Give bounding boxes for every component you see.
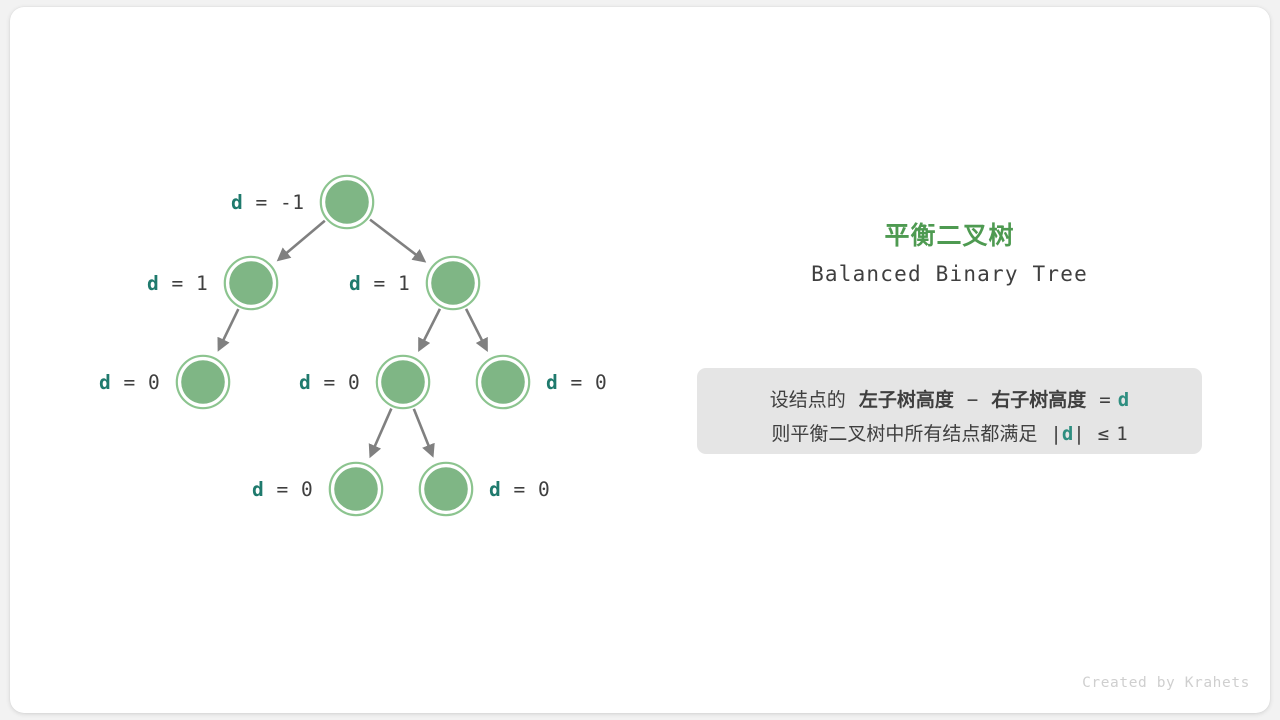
label-variable: d <box>349 272 361 295</box>
variable-d: d <box>1062 423 1073 445</box>
label-variable: d <box>147 272 159 295</box>
node-balance-label: d = 1 <box>349 274 410 294</box>
label-value: 1 <box>196 272 208 295</box>
node-disc <box>229 261 273 305</box>
equals-sign: = <box>1099 389 1110 411</box>
tree-edge <box>466 309 486 349</box>
tree-node[interactable] <box>321 176 373 228</box>
panel-title-cn: 平衡二叉树 <box>697 222 1202 250</box>
label-value: 0 <box>538 478 550 501</box>
label-equals: = <box>243 191 280 214</box>
node-disc <box>381 360 425 404</box>
minus-sign: − <box>967 389 978 411</box>
tree-node[interactable] <box>420 463 472 515</box>
label-variable: d <box>546 371 558 394</box>
term-left-subtree-height: 左子树高度 <box>859 389 954 411</box>
tree-node[interactable] <box>330 463 382 515</box>
node-disc <box>181 360 225 404</box>
tree-node[interactable] <box>177 356 229 408</box>
label-variable: d <box>299 371 311 394</box>
node-disc <box>431 261 475 305</box>
label-equals: = <box>159 272 196 295</box>
label-equals: = <box>264 478 301 501</box>
diagram-canvas: d = -1d = 1d = 1d = 0d = 0d = 0d = 0d = … <box>0 0 1280 720</box>
condition-prefix: 则平衡二叉树中所有结点都满足 <box>771 423 1037 445</box>
label-equals: = <box>111 371 148 394</box>
definition-prefix: 设结点的 <box>770 389 846 411</box>
label-value: 0 <box>595 371 607 394</box>
tree-edge <box>420 309 440 349</box>
abs-bar-open: | <box>1050 423 1061 445</box>
label-variable: d <box>489 478 501 501</box>
label-value: 0 <box>348 371 360 394</box>
bound-value: 1 <box>1116 423 1127 445</box>
abs-bar-close: | <box>1073 423 1084 445</box>
tree-node[interactable] <box>477 356 529 408</box>
label-variable: d <box>231 191 243 214</box>
panel-title-en: Balanced Binary Tree <box>697 263 1202 286</box>
definition-line-2: 则平衡二叉树中所有结点都满足|d|≤1 <box>697 425 1202 444</box>
term-right-subtree-height: 右子树高度 <box>991 389 1086 411</box>
node-balance-label: d = 0 <box>546 373 607 393</box>
label-value: 1 <box>398 272 410 295</box>
label-variable: d <box>252 478 264 501</box>
node-disc <box>481 360 525 404</box>
node-balance-label: d = 0 <box>299 373 360 393</box>
label-value: -1 <box>280 191 304 214</box>
tree-node[interactable] <box>225 257 277 309</box>
label-equals: = <box>558 371 595 394</box>
node-balance-label: d = 0 <box>99 373 160 393</box>
footer-credit: Created by Krahets <box>1082 676 1250 691</box>
binary-tree-graphic <box>0 0 1280 720</box>
tree-edge <box>219 309 238 349</box>
tree-edges <box>219 220 486 456</box>
definition-box: 设结点的左子树高度−右子树高度=d 则平衡二叉树中所有结点都满足|d|≤1 <box>697 368 1202 454</box>
info-panel: 平衡二叉树 Balanced Binary Tree 设结点的左子树高度−右子树… <box>697 222 1202 286</box>
node-disc <box>424 467 468 511</box>
tree-node[interactable] <box>427 257 479 309</box>
label-equals: = <box>501 478 538 501</box>
node-balance-label: d = 0 <box>489 480 550 500</box>
node-balance-label: d = -1 <box>231 193 304 213</box>
label-variable: d <box>99 371 111 394</box>
label-equals: = <box>361 272 398 295</box>
variable-d: d <box>1118 389 1129 411</box>
node-balance-label: d = 0 <box>252 480 313 500</box>
definition-line-1: 设结点的左子树高度−右子树高度=d <box>697 391 1202 410</box>
tree-edge <box>279 221 325 259</box>
tree-node[interactable] <box>377 356 429 408</box>
tree-edge <box>414 409 432 455</box>
tree-edge <box>370 220 424 261</box>
node-balance-label: d = 1 <box>147 274 208 294</box>
label-equals: = <box>311 371 348 394</box>
tree-edge <box>371 409 391 456</box>
label-value: 0 <box>148 371 160 394</box>
node-disc <box>334 467 378 511</box>
tree-nodes <box>177 176 529 515</box>
node-disc <box>325 180 369 224</box>
less-equal-sign: ≤ <box>1098 423 1109 445</box>
label-value: 0 <box>301 478 313 501</box>
